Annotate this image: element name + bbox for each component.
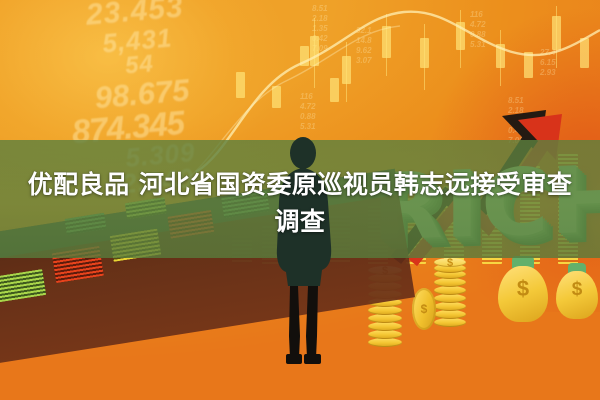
coin-stack: $ (434, 258, 466, 332)
news-banner-image: 23.453 5,431 54 98.675 874.345 5.309 2.3… (0, 0, 600, 400)
dollar-sign-icon: $ (556, 279, 598, 301)
dollar-sign-icon: $ (412, 288, 436, 330)
coin-upright: $ (412, 288, 436, 330)
money-bag: $ (556, 268, 598, 320)
headline-line-2: 调查 (0, 203, 600, 240)
money-bag: $ (498, 262, 548, 322)
page-title: 优配良品 河北省国资委原巡视员韩志远接受审查 调查 (0, 166, 600, 240)
dollar-sign-icon: $ (498, 276, 548, 302)
dollar-sign-icon: $ (434, 257, 466, 269)
headline-line-1: 优配良品 河北省国资委原巡视员韩志远接受审查 (0, 166, 600, 203)
